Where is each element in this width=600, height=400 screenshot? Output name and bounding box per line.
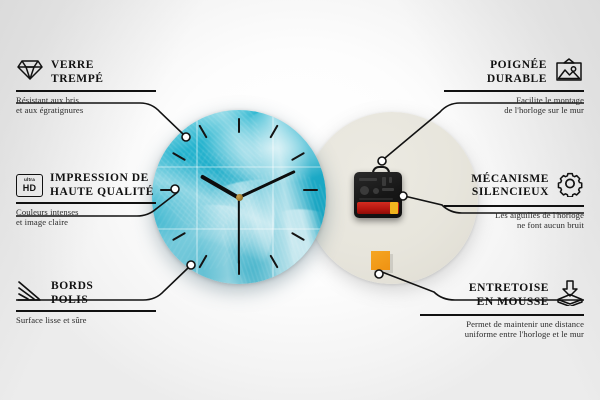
front-clock-face [152,110,326,284]
feature-header: ultra HD IMPRESSION DEHAUTE QUALITÉ [16,172,156,199]
feature-verre-trempe[interactable]: VERRETREMPÉ Résistant aux briset aux égr… [16,58,156,116]
feature-description: Surface lisse et sûre [16,315,156,326]
feature-header: BORDSPOLIS [16,280,156,307]
feature-header: ENTRETOISEEN MOUSSE [420,280,584,311]
ultra-hd-icon: ultra HD [16,174,43,197]
feature-bords-polis[interactable]: BORDSPOLIS Surface lisse et sûre [16,280,156,325]
feature-description: Résistant aux briset aux égratignures [16,95,156,116]
feature-title: IMPRESSION DEHAUTE QUALITÉ [50,172,154,199]
feature-header: MÉCANISMESILENCIEUX [444,170,584,202]
feature-description: Facilite le montagede l'horloge sur le m… [444,95,584,116]
clock-second-hand [238,197,240,263]
diamond-icon [16,58,44,87]
feature-title: POIGNÉEDURABLE [487,59,547,86]
feature-description: Les aiguilles de l'horlogene font aucun … [444,210,584,231]
feature-description: Permet de maintenir une distanceuniforme… [420,319,584,340]
feature-title: ENTRETOISEEN MOUSSE [469,282,549,309]
arrow-down-stack-icon [556,280,584,311]
feature-divider [16,202,156,204]
infographic-canvas: VERRETREMPÉ Résistant aux briset aux égr… [0,0,600,400]
feature-mecanisme-silencieux[interactable]: MÉCANISMESILENCIEUX Les aiguilles de l'h… [444,170,584,231]
feature-divider [444,90,584,92]
feature-impression-haute-qualite[interactable]: ultra HD IMPRESSION DEHAUTE QUALITÉ Coul… [16,172,156,228]
feature-description: Couleurs intenseset image claire [16,207,156,228]
feature-divider [16,90,156,92]
feature-poignee-durable[interactable]: POIGNÉEDURABLE Facilite le montagede l'h… [444,58,584,116]
feature-divider [444,205,584,207]
clock-hands-hub [236,194,243,201]
mechanism-battery-cap [390,202,398,214]
gear-icon [556,170,584,202]
feature-title: MÉCANISMESILENCIEUX [471,173,549,200]
polished-edge-icon [16,280,44,307]
feature-header: VERRETREMPÉ [16,58,156,87]
picture-frame-hanger-icon [554,58,584,87]
feature-title: BORDSPOLIS [51,280,93,307]
feature-divider [16,310,156,312]
foam-spacer [371,251,390,270]
feature-header: POIGNÉEDURABLE [444,58,584,87]
feature-entretoise-en-mousse[interactable]: ENTRETOISEEN MOUSSE Permet de maintenir … [420,280,584,340]
feature-divider [420,314,584,316]
feature-title: VERRETREMPÉ [51,59,104,86]
